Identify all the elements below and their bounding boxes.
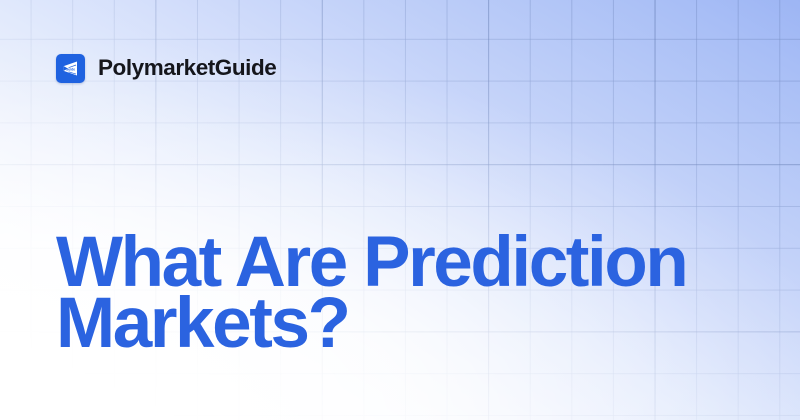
brand-lockup[interactable]: Guide PolymarketGuide (56, 54, 276, 83)
page-title: What Are Prediction Markets? (56, 232, 686, 354)
flag-banner-icon: Guide (56, 54, 85, 83)
svg-text:Guide: Guide (66, 67, 76, 71)
hero-banner: Guide PolymarketGuide What Are Predictio… (0, 0, 800, 420)
brand-name: PolymarketGuide (98, 57, 276, 80)
banner-content: Guide PolymarketGuide What Are Predictio… (0, 0, 800, 420)
